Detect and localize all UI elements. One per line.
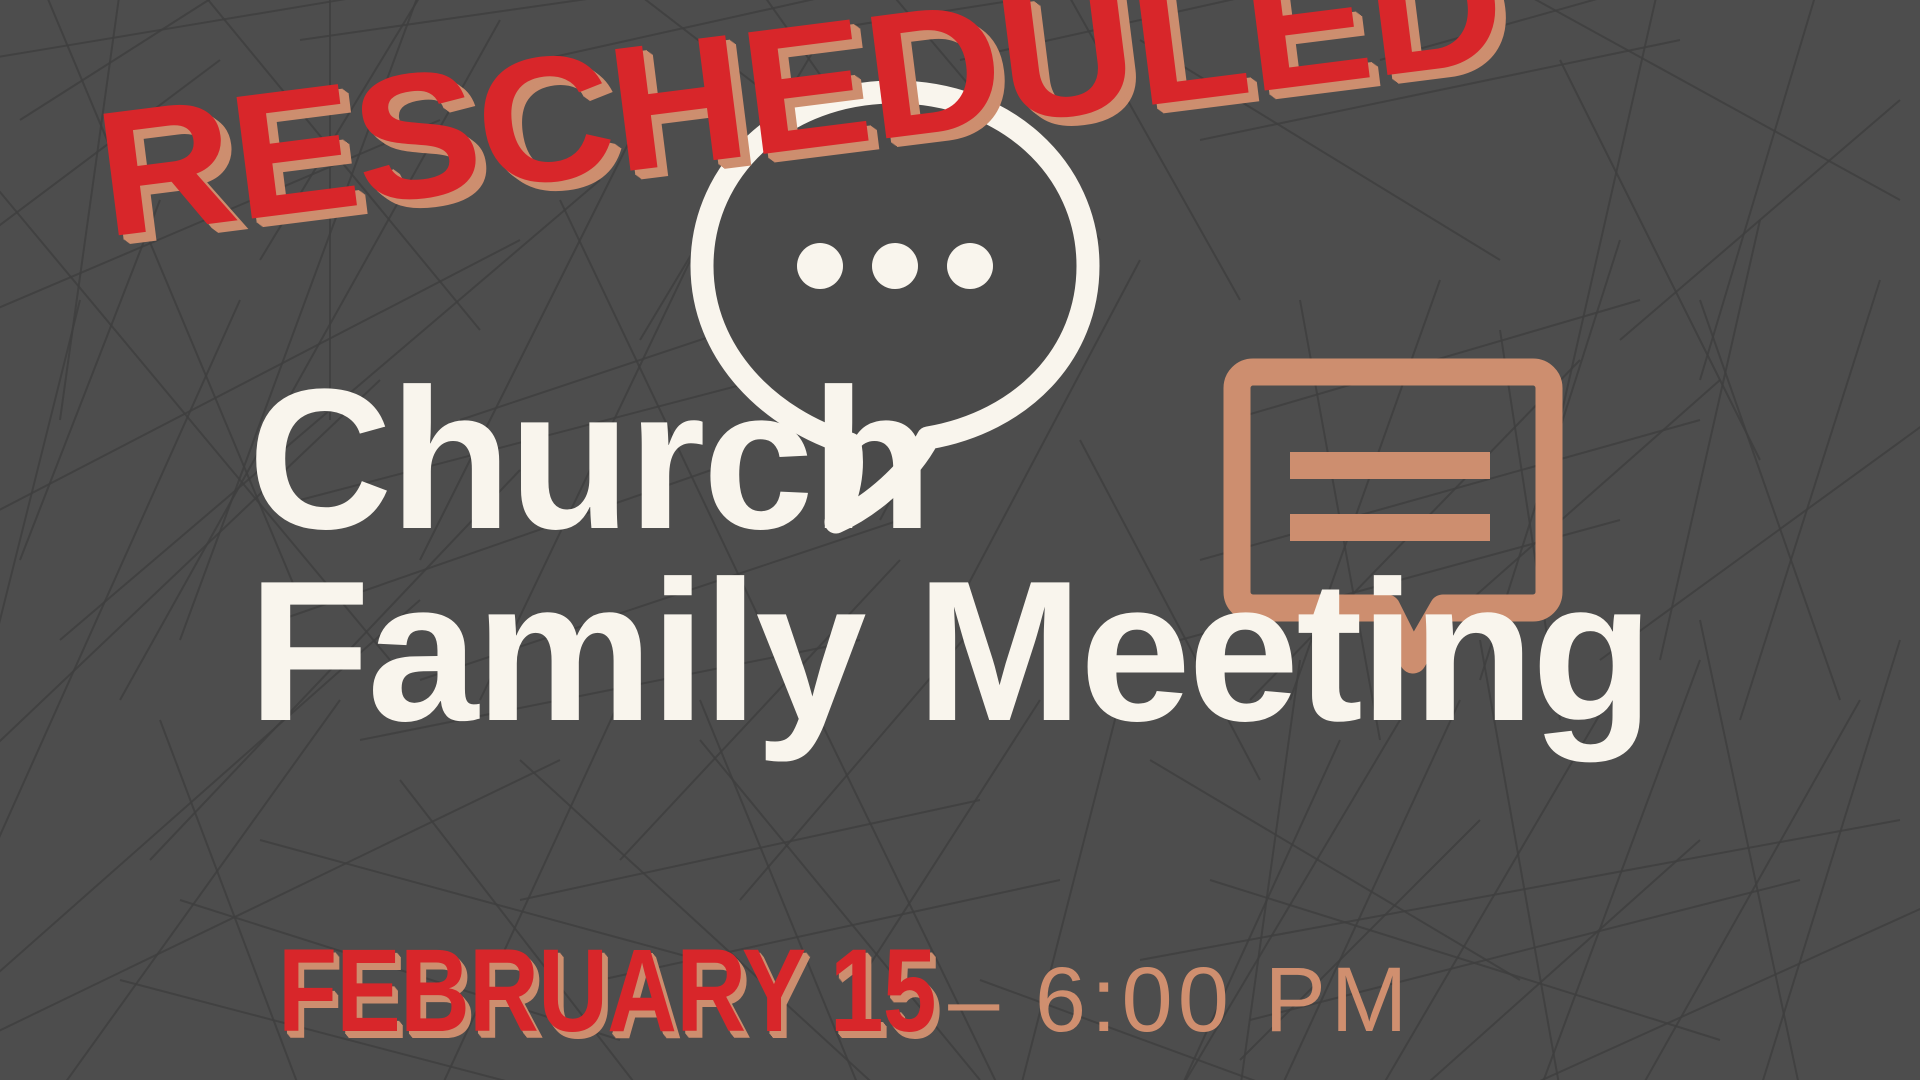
title-line-family-meeting: Family Meeting: [248, 554, 1568, 750]
event-poster: RESCHEDULED Church Family Meeting FEBRUA…: [0, 0, 1920, 1080]
event-date: FEBRUARY 15: [278, 932, 936, 1050]
poster-title: Church Family Meeting: [248, 372, 1568, 750]
event-datetime: FEBRUARY 15 – 6:00 PM: [278, 932, 1412, 1050]
title-line-church: Church: [248, 372, 1568, 548]
event-time: – 6:00 PM: [948, 954, 1412, 1046]
